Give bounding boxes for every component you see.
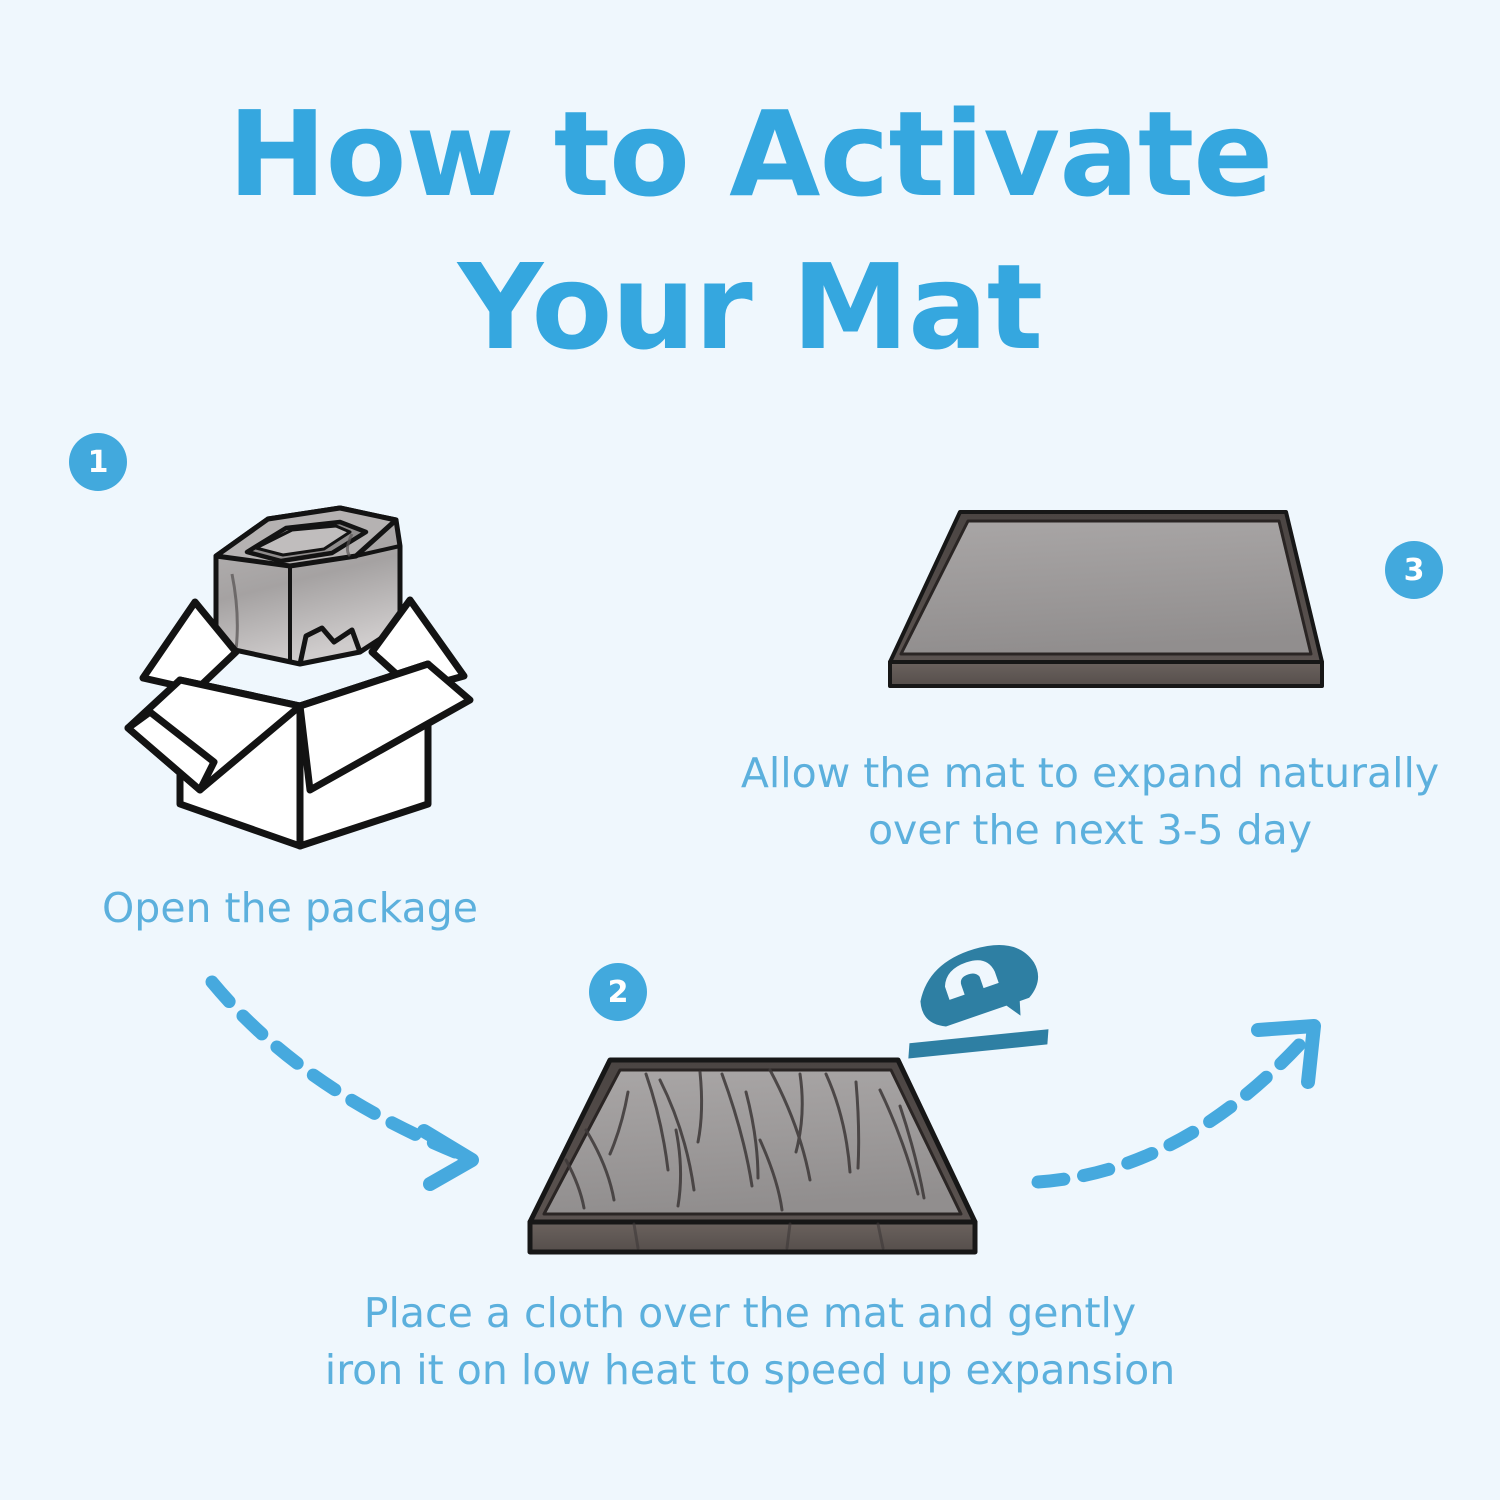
box-flap-front-left — [128, 680, 300, 790]
curved-dashed-arrow-down-right-icon — [212, 982, 472, 1184]
step-badge-1-number: 1 — [88, 445, 109, 480]
step-badge-2[interactable]: 2 — [589, 963, 647, 1021]
step-1-caption-text: Open the package — [102, 884, 478, 932]
box-flap-back-left — [143, 602, 236, 690]
flat-mat-icon — [890, 512, 1322, 686]
cardboard-box-icon — [128, 508, 470, 846]
iron-icon — [882, 932, 1062, 1089]
title-line-1: How to Activate — [228, 85, 1273, 223]
step-badge-2-number: 2 — [608, 975, 629, 1010]
step-1-caption: Open the package — [40, 880, 540, 937]
box-flap-front-left-edge — [128, 712, 214, 790]
cloth-wrinkles — [566, 1070, 924, 1210]
box-flap-front-right — [300, 664, 470, 790]
step-badge-3-number: 3 — [1404, 553, 1425, 588]
curved-dashed-arrow-up-right-icon — [1038, 1026, 1314, 1182]
step-2-caption: Place a cloth over the mat and gently ir… — [250, 1285, 1250, 1398]
page-title: How to Activate Your Mat — [0, 78, 1500, 385]
box-side-right — [300, 664, 428, 846]
cloth-covered-mat-icon — [530, 1060, 975, 1252]
infographic-canvas: How to Activate Your Mat — [0, 0, 1500, 1500]
step-3-caption-line-2: over the next 3-5 day — [690, 802, 1490, 859]
packed-mat-product — [216, 508, 400, 664]
title-line-2: Your Mat — [0, 231, 1500, 384]
step-2-caption-line-1: Place a cloth over the mat and gently — [250, 1285, 1250, 1342]
step-badge-1[interactable]: 1 — [69, 433, 127, 491]
step-badge-3[interactable]: 3 — [1385, 541, 1443, 599]
step-3-caption: Allow the mat to expand naturally over t… — [690, 745, 1490, 858]
box-side-left — [180, 680, 300, 846]
box-flap-back-right — [372, 600, 464, 690]
step-3-caption-line-1: Allow the mat to expand naturally — [690, 745, 1490, 802]
step-2-caption-line-2: iron it on low heat to speed up expansio… — [250, 1342, 1250, 1399]
